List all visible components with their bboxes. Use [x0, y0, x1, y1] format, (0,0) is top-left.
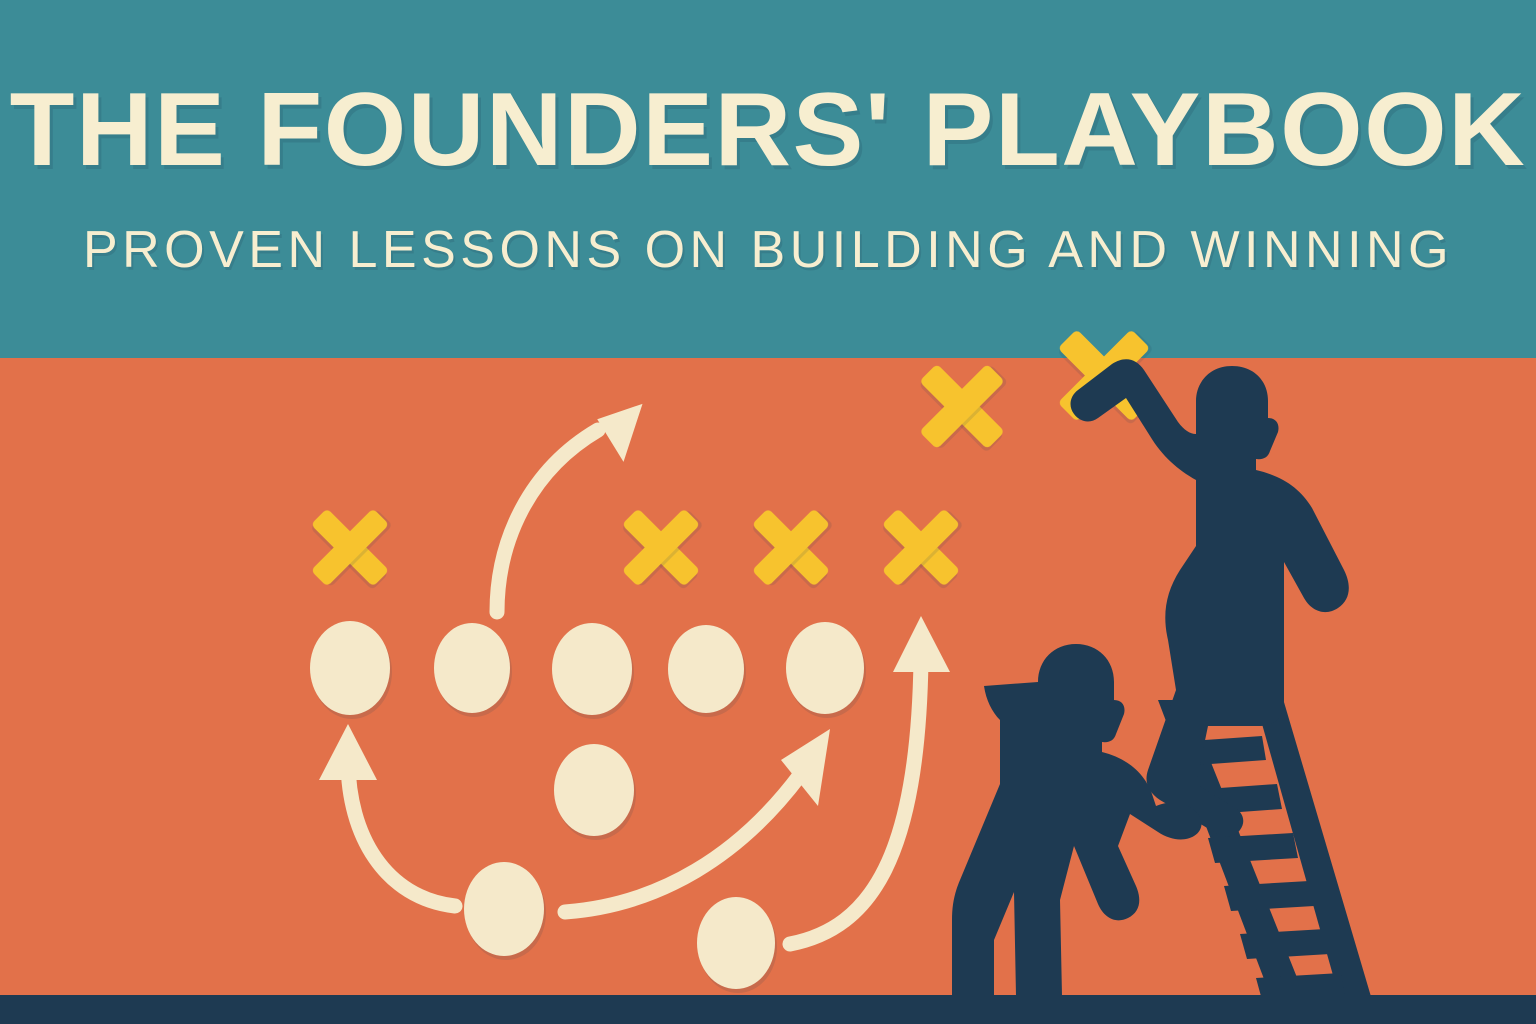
- silhouette-figures-layer: [0, 0, 1536, 1024]
- poster-canvas: THE FOUNDERS' PLAYBOOK PROVEN LESSONS ON…: [0, 0, 1536, 1024]
- ladder-rung: [1208, 833, 1298, 863]
- ladder-rung: [1240, 929, 1330, 959]
- supporting-founder-silhouette: [952, 644, 1202, 996]
- ladder-rung: [1224, 881, 1314, 911]
- ground-band: [0, 995, 1536, 1024]
